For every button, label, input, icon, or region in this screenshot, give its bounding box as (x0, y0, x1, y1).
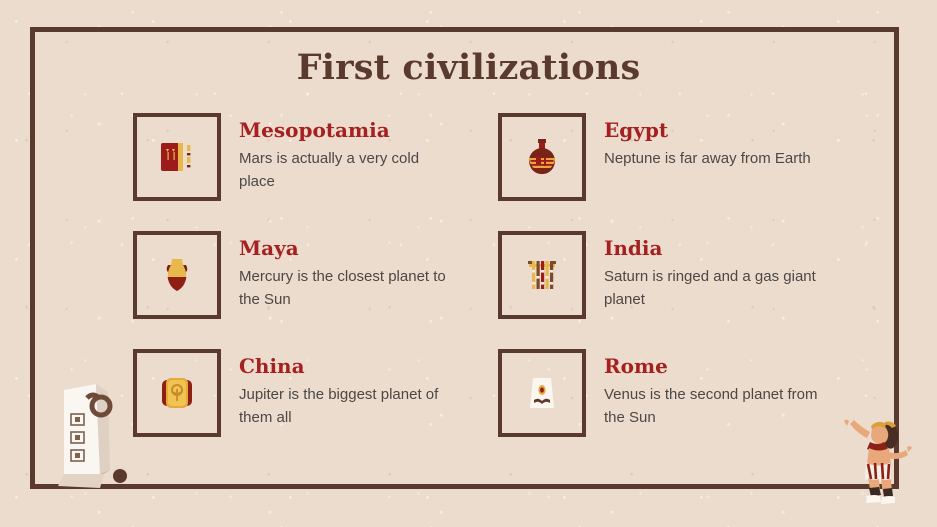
list-item[interactable]: Maya Mercury is the closest planet to th… (133, 231, 466, 319)
clay-tablet-icon (154, 134, 200, 180)
list-item-title: Egypt (604, 119, 811, 141)
list-item-texts: China Jupiter is the biggest planet of t… (239, 349, 454, 430)
list-item[interactable]: India Saturn is ringed and a gas giant p… (498, 231, 831, 319)
list-item-texts: Rome Venus is the second planet from the… (604, 349, 819, 430)
list-item[interactable]: Mesopotamia Mars is actually a very cold… (133, 113, 466, 201)
canopic-jar-icon (519, 134, 565, 180)
list-item-title: Maya (239, 237, 454, 259)
oracle-tablet-icon (154, 370, 200, 416)
list-item-title: Rome (604, 355, 819, 377)
striped-textile-icon-box (498, 231, 586, 319)
list-item-title: India (604, 237, 819, 259)
list-item-texts: Mesopotamia Mars is actually a very cold… (239, 113, 454, 194)
list-item-texts: India Saturn is ringed and a gas giant p… (604, 231, 819, 312)
amphora-icon-box (133, 231, 221, 319)
stone-stele-illustration (38, 362, 138, 492)
canopic-jar-icon-box (498, 113, 586, 201)
list-item-description: Mars is actually a very cold place (239, 148, 454, 194)
list-item-description: Mercury is the closest planet to the Sun (239, 266, 454, 312)
list-item-description: Neptune is far away from Earth (604, 148, 811, 171)
civilizations-grid: Mesopotamia Mars is actually a very cold… (133, 113, 833, 437)
striped-textile-icon (519, 252, 565, 298)
list-item-description: Saturn is ringed and a gas giant planet (604, 266, 819, 312)
list-item-description: Jupiter is the biggest planet of them al… (239, 384, 454, 430)
list-item-texts: Maya Mercury is the closest planet to th… (239, 231, 454, 312)
page-title: First civilizations (0, 47, 937, 88)
list-item[interactable]: Egypt Neptune is far away from Earth (498, 113, 831, 201)
oracle-tablet-icon-box (133, 349, 221, 437)
toga-icon (519, 370, 565, 416)
list-item-description: Venus is the second planet from the Sun (604, 384, 819, 430)
toga-icon-box (498, 349, 586, 437)
amphora-icon (154, 252, 200, 298)
list-item[interactable]: China Jupiter is the biggest planet of t… (133, 349, 466, 437)
list-item-title: Mesopotamia (239, 119, 454, 141)
list-item-title: China (239, 355, 454, 377)
roman-warrior-illustration (843, 418, 913, 506)
list-item-texts: Egypt Neptune is far away from Earth (604, 113, 811, 171)
clay-tablet-icon-box (133, 113, 221, 201)
list-item[interactable]: Rome Venus is the second planet from the… (498, 349, 831, 437)
